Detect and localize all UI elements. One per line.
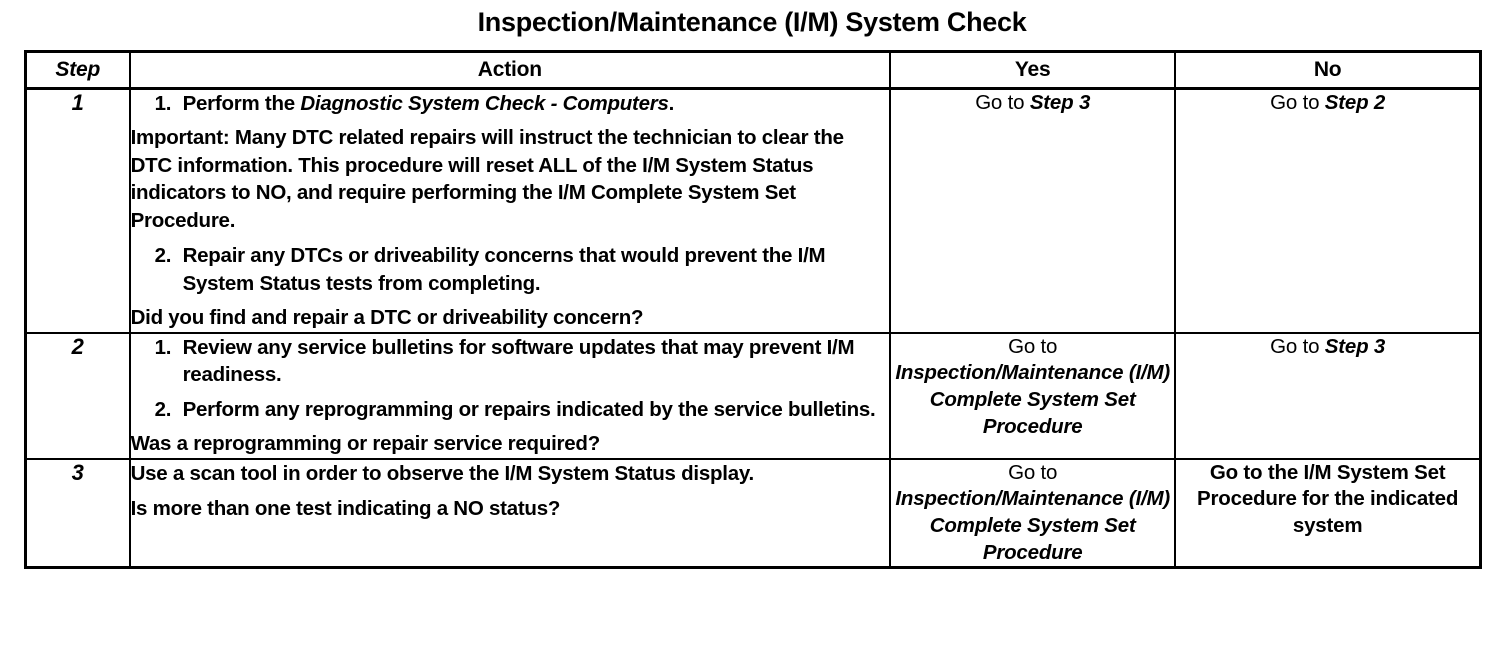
- list-text: Review any service bulletins for softwar…: [183, 334, 890, 389]
- action-cell-step-1: 1. Perform the Diagnostic System Check -…: [130, 89, 891, 333]
- item1-tail: .: [669, 92, 674, 115]
- goto-target-procedure: Inspection/Maintenance (I/M) Complete Sy…: [891, 360, 1174, 440]
- page-title: Inspection/Maintenance (I/M) System Chec…: [0, 8, 1504, 36]
- yes-cell-step-2: Go to Inspection/Maintenance (I/M) Compl…: [890, 333, 1175, 459]
- goto-lead: Go to: [1008, 461, 1057, 484]
- list-marker: 2.: [155, 242, 183, 297]
- action-list-item: 1. Perform the Diagnostic System Check -…: [131, 90, 890, 117]
- table-row-step-2: 2 1. Review any service bulletins for so…: [26, 333, 1481, 459]
- goto-target-procedure: Inspection/Maintenance (I/M) Complete Sy…: [891, 486, 1174, 566]
- list-marker: 1.: [155, 90, 183, 117]
- no-cell-step-2: Go to Step 3: [1175, 333, 1480, 459]
- list-marker: 2.: [155, 396, 183, 423]
- column-header-step: Step: [26, 52, 130, 89]
- list-text: Perform the Diagnostic System Check - Co…: [183, 90, 890, 117]
- list-text: Perform any reprogramming or repairs ind…: [183, 396, 890, 423]
- action-cell-step-3: Use a scan tool in order to observe the …: [130, 459, 891, 568]
- goto-target-step: Step 3: [1325, 335, 1385, 358]
- important-label: Important:: [131, 126, 230, 149]
- goto-lead: Go to: [1270, 91, 1325, 114]
- action-list-item: 2. Perform any reprogramming or repairs …: [131, 396, 890, 423]
- item1-procedure-name: Diagnostic System Check - Computers: [300, 92, 668, 115]
- goto-target-step: Step 2: [1325, 91, 1385, 114]
- action-cell-step-2: 1. Review any service bulletins for soft…: [130, 333, 891, 459]
- item1-lead: Perform the: [183, 92, 301, 115]
- yes-cell-step-3: Go to Inspection/Maintenance (I/M) Compl…: [890, 459, 1175, 568]
- important-note: Important: Many DTC related repairs will…: [131, 124, 890, 234]
- action-list-item: 2. Repair any DTCs or driveability conce…: [131, 242, 890, 297]
- table-row-step-3: 3 Use a scan tool in order to observe th…: [26, 459, 1481, 568]
- action-question: Is more than one test indicating a NO st…: [131, 495, 890, 522]
- action-question: Did you find and repair a DTC or driveab…: [131, 304, 890, 331]
- action-instruction: Use a scan tool in order to observe the …: [131, 460, 890, 487]
- important-text: Many DTC related repairs will instruct t…: [131, 126, 844, 231]
- goto-lead: Go to: [1270, 335, 1325, 358]
- goto-lead: Go to: [975, 91, 1030, 114]
- step-number-2: 2: [26, 333, 130, 459]
- table-header-row: Step Action Yes No: [26, 52, 1481, 89]
- no-cell-step-3: Go to the I/M System Set Procedure for t…: [1175, 459, 1480, 568]
- list-marker: 1.: [155, 334, 183, 389]
- no-cell-step-1: Go to Step 2: [1175, 89, 1480, 333]
- goto-target-system: Go to the I/M System Set Procedure for t…: [1197, 461, 1458, 537]
- column-header-action: Action: [130, 52, 891, 89]
- goto-target-step: Step 3: [1030, 91, 1090, 114]
- step-number-1: 1: [26, 89, 130, 333]
- action-question: Was a reprogramming or repair service re…: [131, 430, 890, 457]
- list-text: Repair any DTCs or driveability concerns…: [183, 242, 890, 297]
- goto-lead: Go to: [1008, 335, 1057, 358]
- yes-cell-step-1: Go to Step 3: [890, 89, 1175, 333]
- column-header-no: No: [1175, 52, 1480, 89]
- table-row-step-1: 1 1. Perform the Diagnostic System Check…: [26, 89, 1481, 333]
- action-list-item: 1. Review any service bulletins for soft…: [131, 334, 890, 389]
- diagnostic-procedure-table: Step Action Yes No 1 1. Perform the Diag…: [24, 50, 1482, 569]
- step-number-3: 3: [26, 459, 130, 568]
- column-header-yes: Yes: [890, 52, 1175, 89]
